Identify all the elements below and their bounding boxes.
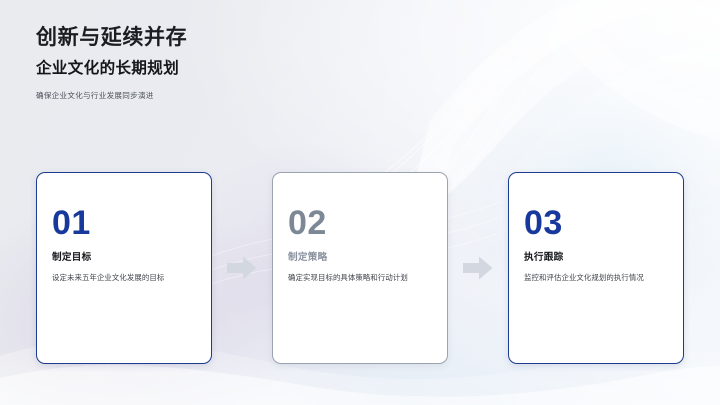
step-connector-1 [212,172,272,364]
step-description: 监控和评估企业文化规划的执行情况 [524,272,668,283]
step-card-01[interactable]: 01 制定目标 设定未来五年企业文化发展的目标 [36,172,212,364]
step-card-03[interactable]: 03 执行跟踪 监控和评估企业文化规划的执行情况 [508,172,684,364]
step-title: 制定策略 [288,252,432,264]
arrow-right-icon [227,255,257,281]
arrow-right-icon [463,255,493,281]
step-number: 03 [524,207,668,239]
page-description: 确保企业文化与行业发展同步演进 [36,91,366,101]
step-number: 02 [288,207,432,239]
step-description: 设定未来五年企业文化发展的目标 [52,272,196,283]
page-subtitle: 企业文化的长期规划 [36,60,366,79]
step-title: 执行跟踪 [524,252,668,264]
steps-row: 01 制定目标 设定未来五年企业文化发展的目标 02 制定策略 确定实现目标的具… [36,172,684,364]
step-description: 确定实现目标的具体策略和行动计划 [288,272,432,283]
page-title: 创新与延续并存 [36,26,366,51]
step-number: 01 [52,207,196,239]
step-title: 制定目标 [52,252,196,264]
step-connector-2 [448,172,508,364]
step-card-02[interactable]: 02 制定策略 确定实现目标的具体策略和行动计划 [272,172,448,364]
slide-header: 创新与延续并存 企业文化的长期规划 确保企业文化与行业发展同步演进 [36,26,366,102]
slide-canvas: 创新与延续并存 企业文化的长期规划 确保企业文化与行业发展同步演进 01 制定目… [0,0,720,405]
